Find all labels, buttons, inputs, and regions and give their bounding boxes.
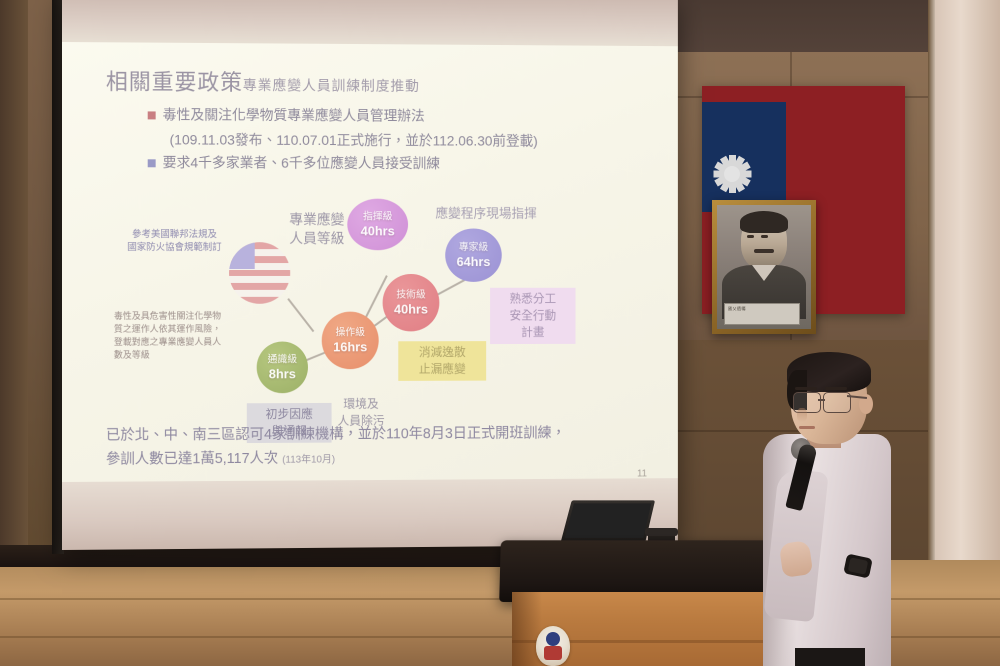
level-node-technician: 技術級 40hrs xyxy=(383,274,440,331)
presenter-brow-left xyxy=(795,387,817,390)
flag-blue-canton xyxy=(702,102,786,212)
level-hours-specialist: 64hrs xyxy=(457,254,491,269)
bullet-marker-red-icon xyxy=(148,112,156,120)
flag-icon-inner xyxy=(229,242,290,304)
smartwatch-face xyxy=(848,557,869,574)
left-wall-shadow xyxy=(0,0,28,560)
presenter-brow-right xyxy=(825,387,847,390)
bullet-1-text: 毒性及關注化學物質專業應變人員管理辦法 xyxy=(163,106,425,123)
presenter-nose xyxy=(797,408,807,422)
level-node-general: 通識級 8hrs xyxy=(257,341,308,393)
presenter-hand xyxy=(779,540,813,578)
emblem-red-part xyxy=(544,646,562,660)
slide-title: 相關重要政策專業應變人員訓練制度推動 xyxy=(106,64,420,98)
bullet-2: 要求4千多家業者、6千多位應變人員接受訓練 xyxy=(148,152,440,173)
portrait-image: 國父遺囑 xyxy=(717,205,811,329)
bullet-2-text: 要求4千多家業者、6千多位應變人員接受訓練 xyxy=(163,154,440,171)
note-lb-line1: 毒性及具危害性關注化學物 xyxy=(114,310,233,323)
level-name-technician: 技術級 xyxy=(396,289,425,301)
tag-pink-line2: 安全行動 xyxy=(496,307,570,324)
tag-technician-level: 消減逸散 止漏應變 xyxy=(398,341,486,381)
portrait-eye-right xyxy=(761,235,768,238)
note-lb-line4: 數及等級 xyxy=(114,349,233,362)
slide-content: 相關重要政策專業應變人員訓練制度推動 毒性及關注化學物質專業應變人員管理辦法 (… xyxy=(62,42,678,482)
note-lb-line3: 登載對應之專業應變人員人 xyxy=(114,336,233,349)
screenshot-root: 國父遺囑 相關重要政策專業應變人員訓練制度推動 毒性及關注化學物質專業應變人員管… xyxy=(0,0,1000,666)
glasses-bridge xyxy=(818,399,825,401)
white-sun-icon xyxy=(712,154,752,194)
portrait-plaque: 國父遺囑 xyxy=(724,303,800,325)
portrait-plaque-text: 國父遺囑 xyxy=(725,304,799,313)
bullet-marker-blue-icon xyxy=(148,160,156,168)
note-left-top: 參考美國聯邦法規及 國家防火協會規範制訂 xyxy=(120,228,229,254)
level-name-general: 通識級 xyxy=(268,354,298,366)
podium-emblem-icon xyxy=(536,626,570,666)
level-name-specialist: 專家級 xyxy=(459,242,488,254)
footer-line-2: 參訓人數已達1萬5,117人次 (113年10月) xyxy=(106,447,335,469)
note-left-bottom: 毒性及具危害性關注化學物 質之運作人依其運作風險， 登載對應之專業應變人員人 數… xyxy=(114,310,233,362)
tag-yellow-line2: 止漏應變 xyxy=(404,361,480,378)
level-name-operation: 操作級 xyxy=(336,327,365,339)
level-hours-technician: 40hrs xyxy=(394,301,428,316)
tag-pink-line1: 熟悉分工 xyxy=(496,291,570,308)
slide-page-number: 11 xyxy=(637,468,647,479)
presenter-mouth xyxy=(799,426,815,429)
bullet-1: 毒性及關注化學物質專業應變人員管理辦法 xyxy=(148,104,425,125)
emblem-blue-part xyxy=(546,632,560,646)
level-node-specialist: 專家級 64hrs xyxy=(445,229,502,282)
note-lt-line2: 國家防火協會規範制訂 xyxy=(120,241,229,254)
level-node-operation: 操作級 16hrs xyxy=(322,312,379,370)
portrait-frame: 國父遺囑 xyxy=(712,200,816,334)
connector-flag-green xyxy=(288,298,315,332)
tag-plain-line1: 環境及 xyxy=(324,396,399,413)
top-right-label: 應變程序現場指揮 xyxy=(435,203,536,222)
footer-line-2-main: 參訓人數已達1萬5,117人次 xyxy=(106,451,278,468)
presenter xyxy=(735,352,910,666)
tag-pink-line3: 計畫 xyxy=(496,324,570,341)
right-pillar xyxy=(935,0,1000,560)
tag-gray-line1: 初步因應 xyxy=(253,406,326,423)
laptop xyxy=(560,500,655,544)
footer-line-2-note: (113年10月) xyxy=(282,454,335,465)
tag-specialist-level: 熟悉分工 安全行動 計畫 xyxy=(490,288,575,344)
tag-yellow-line1: 消減逸散 xyxy=(404,344,480,361)
portrait-eye-left xyxy=(747,235,754,238)
level-node-commander: 指揮級 40hrs xyxy=(347,199,408,251)
flag-icon-canton xyxy=(229,242,255,269)
level-hours-general: 8hrs xyxy=(269,366,296,381)
level-hours-commander: 40hrs xyxy=(361,223,395,238)
slide-title-main: 相關重要政策 xyxy=(106,69,243,95)
slide-title-sub: 專業應變人員訓練制度推動 xyxy=(243,77,420,94)
portrait-hair xyxy=(740,211,788,233)
projection-screen: 相關重要政策專業應變人員訓練制度推動 毒性及關注化學物質專業應變人員管理辦法 (… xyxy=(62,0,678,550)
presenter-lower-body xyxy=(795,648,865,666)
laptop-screen xyxy=(565,503,652,538)
portrait-moustache xyxy=(754,249,774,253)
footer-line-1: 已於北、中、南三區認可4家訓練機構，並於110年8月3日正式開班訓練， xyxy=(106,422,566,445)
level-name-commander: 指揮級 xyxy=(363,211,392,223)
bullet-1-sub: (109.11.03發布、110.07.01正式施行，並於112.06.30前登… xyxy=(170,129,538,150)
coffee-cup-lid xyxy=(645,528,678,536)
bullet-1-subtext: (109.11.03發布、110.07.01正式施行，並於112.06.30前登… xyxy=(170,131,538,148)
level-hours-operation: 16hrs xyxy=(333,339,367,354)
note-lt-line1: 參考美國聯邦法規及 xyxy=(120,228,229,241)
us-flag-circle-icon xyxy=(229,242,290,304)
note-lb-line2: 質之運作人依其運作風險， xyxy=(114,323,233,336)
